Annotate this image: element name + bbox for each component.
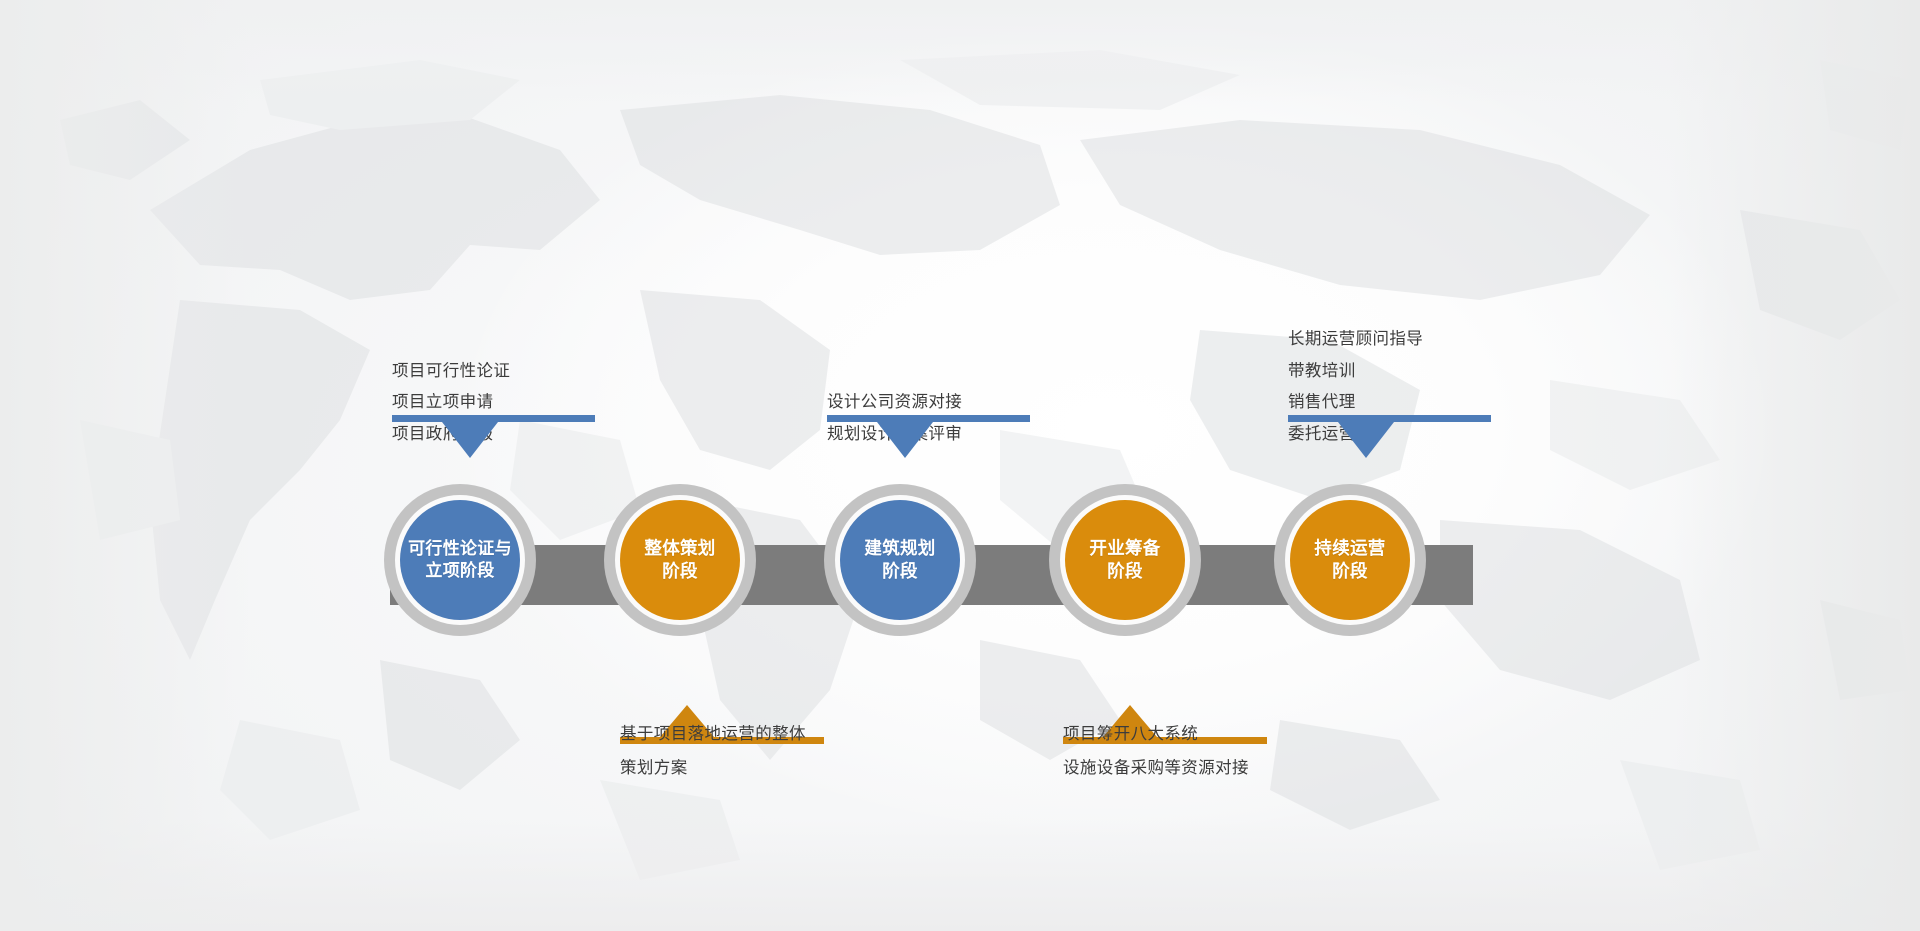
callout-rule — [1288, 415, 1491, 422]
callout-line: 项目筹开八大系统 — [1063, 726, 1249, 743]
callout-pointer-down-icon — [1338, 422, 1394, 458]
phase-ring-gap: 开业筹备 阶段 — [1060, 495, 1190, 625]
callout-line: 项目可行性论证 — [392, 363, 510, 380]
phase-node-planning[interactable]: 整体策划 阶段 — [604, 484, 756, 636]
callout-line: 销售代理 — [1288, 394, 1423, 411]
callout-line: 长期运营顾问指导 — [1288, 331, 1423, 348]
phase-ring-gap: 整体策划 阶段 — [615, 495, 745, 625]
phase-disc: 建筑规划 阶段 — [840, 500, 960, 620]
callout-line: 设施设备采购等资源对接 — [1063, 760, 1249, 777]
phase-disc: 整体策划 阶段 — [620, 500, 740, 620]
phase-ring-gap: 建筑规划 阶段 — [835, 495, 965, 625]
phase-label: 建筑规划 阶段 — [864, 537, 935, 583]
diagram-canvas: 可行性论证与 立项阶段 整体策划 阶段 建筑规划 阶段 开业筹备 阶段 持续运营… — [0, 0, 1920, 931]
background-vignette — [0, 0, 1920, 931]
callout-preopening-notes: 项目筹开八大系统 设施设备采购等资源对接 — [1063, 704, 1267, 744]
callout-text-block: 项目筹开八大系统 设施设备采购等资源对接 — [1063, 726, 1249, 776]
callout-text-block: 基于项目落地运营的整体 策划方案 — [620, 726, 806, 776]
callout-line: 基于项目落地运营的整体 — [620, 726, 806, 743]
callout-operation-notes: 长期运营顾问指导 带教培训 销售代理 委托运营 — [1288, 415, 1491, 459]
phase-ring-gap: 可行性论证与 立项阶段 — [395, 495, 525, 625]
callout-line: 项目立项申请 — [392, 394, 510, 411]
phase-label: 可行性论证与 立项阶段 — [408, 538, 512, 583]
phase-label: 整体策划 阶段 — [644, 537, 715, 583]
phase-disc: 持续运营 阶段 — [1290, 500, 1410, 620]
callout-line: 设计公司资源对接 — [827, 394, 962, 411]
phase-node-architecture[interactable]: 建筑规划 阶段 — [824, 484, 976, 636]
callout-feasibility-notes: 项目可行性论证 项目立项申请 项目政府汇报 — [392, 415, 595, 459]
callout-line: 策划方案 — [620, 760, 806, 777]
phase-node-feasibility[interactable]: 可行性论证与 立项阶段 — [384, 484, 536, 636]
phase-ring-gap: 持续运营 阶段 — [1285, 495, 1415, 625]
callout-architecture-notes: 设计公司资源对接 规划设计方案评审 — [827, 415, 1030, 459]
phase-disc: 可行性论证与 立项阶段 — [400, 500, 520, 620]
phase-label: 开业筹备 阶段 — [1089, 537, 1160, 583]
callout-planning-notes: 基于项目落地运营的整体 策划方案 — [620, 704, 824, 744]
callout-pointer-down-icon — [442, 422, 498, 458]
callout-rule — [827, 415, 1030, 422]
phase-node-operation[interactable]: 持续运营 阶段 — [1274, 484, 1426, 636]
callout-pointer-down-icon — [877, 422, 933, 458]
phase-label: 持续运营 阶段 — [1314, 537, 1385, 583]
phase-node-preopening[interactable]: 开业筹备 阶段 — [1049, 484, 1201, 636]
callout-rule — [392, 415, 595, 422]
phase-disc: 开业筹备 阶段 — [1065, 500, 1185, 620]
callout-line: 带教培训 — [1288, 363, 1423, 380]
